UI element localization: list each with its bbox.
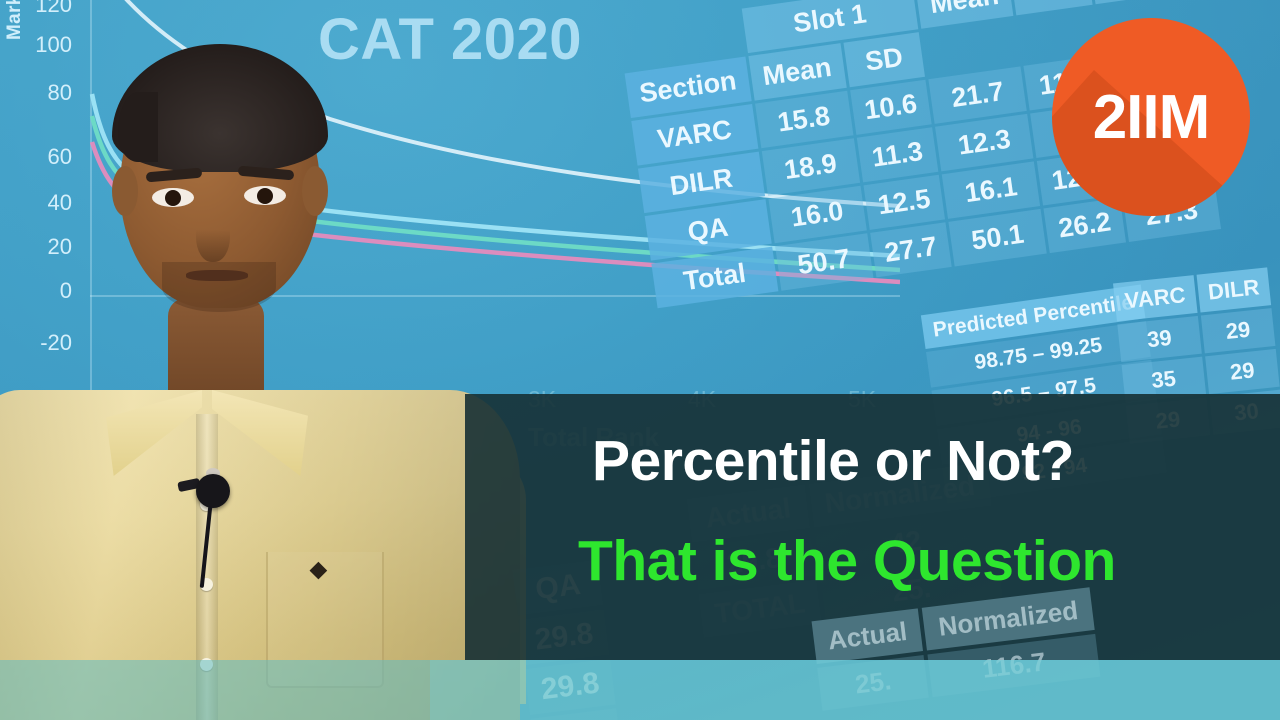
table-cell: 11.3 xyxy=(856,127,938,182)
video-thumbnail: Marks 120 100 80 60 40 20 0 -20 3K 4K 5K… xyxy=(0,0,1280,720)
lapel-microphone-icon xyxy=(196,474,230,508)
presenter-ear-right xyxy=(302,166,328,216)
table-cell: 29 xyxy=(1201,308,1276,353)
title-line-2: That is the Question xyxy=(578,528,1116,594)
presenter-eye-right xyxy=(244,186,286,205)
presenter-photo: ⬥ xyxy=(0,18,470,720)
table-cell: 27.7 xyxy=(870,222,952,277)
table-header-sd-1: SD xyxy=(843,32,925,87)
table-cell: 50.7 xyxy=(775,233,873,291)
table-cell: 29 xyxy=(1205,349,1280,394)
presenter-ear-left xyxy=(112,166,138,216)
bottom-teal-band-overlay xyxy=(430,660,1280,720)
table-header-actual-bottom: Actual xyxy=(812,608,924,664)
brand-logo-2iim: 2IIM xyxy=(1052,18,1250,216)
presenter-mouth xyxy=(186,270,248,281)
table-header-varc: VARC xyxy=(1113,275,1197,321)
table-cell: 10.6 xyxy=(850,80,932,135)
logo-text: 2IIM xyxy=(1093,82,1210,153)
title-line-1: Percentile or Not? xyxy=(592,428,1074,494)
presenter-hair xyxy=(112,44,328,172)
presenter-nose xyxy=(196,208,230,262)
table-cell: 50.1 xyxy=(949,209,1047,267)
table-cell: 39 xyxy=(1117,316,1201,362)
table-header-dilr: DILR xyxy=(1196,267,1271,312)
presenter-eye-left xyxy=(152,188,194,207)
table-cell: 12.5 xyxy=(863,175,945,230)
shirt-brand-logo-icon: ⬥ xyxy=(310,556,324,584)
